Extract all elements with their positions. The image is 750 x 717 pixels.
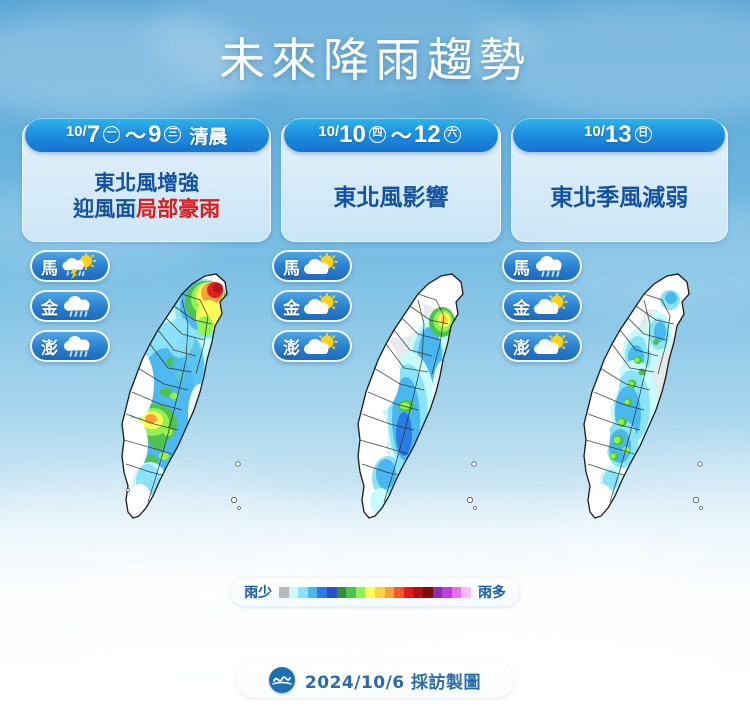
weekday-start: 日 (635, 126, 652, 143)
island-label: 澎 (513, 334, 530, 359)
island-row-kinmen-1: 金 (30, 290, 110, 322)
taiwan-rainfall-map-1 (108, 264, 258, 544)
forecast-panel-row: 10/7一～9三清晨 東北風增強 迎風面局部豪雨 10/10四～12六 東北風影… (22, 122, 728, 242)
date-prefix: 10/ (584, 123, 605, 140)
legend-swatch (433, 587, 443, 598)
sun-cloud-icon (532, 293, 570, 319)
panel-3-summary: 東北季風減弱 (550, 152, 688, 242)
island-label: 馬 (283, 254, 300, 279)
legend-swatch (461, 587, 471, 598)
island-label: 澎 (41, 334, 58, 359)
weekday-start: 四 (369, 126, 386, 143)
panel-2-date-pill: 10/10四～12六 (284, 118, 498, 152)
island-label: 馬 (41, 254, 58, 279)
island-label: 金 (513, 294, 530, 319)
legend-swatch (298, 587, 308, 598)
weekday-end: 三 (164, 126, 181, 143)
panel-3-line1: 東北季風減弱 (550, 183, 688, 212)
date-end: 9 (148, 121, 161, 149)
legend-swatch (404, 587, 414, 598)
date-prefix: 10/ (318, 123, 339, 140)
panel-1-line2-plain: 迎風面 (73, 198, 136, 221)
island-label: 金 (283, 294, 300, 319)
legend-swatch (346, 587, 356, 598)
legend-swatch (365, 587, 375, 598)
column-3: 馬 金 (502, 250, 582, 370)
island-label: 金 (41, 294, 58, 319)
date-start: 10 (339, 121, 366, 149)
panel-2-line1: 東北風影響 (333, 183, 448, 212)
rainfall-legend: 雨少 雨多 (231, 578, 519, 606)
island-row-penghu-1: 澎 (30, 330, 110, 362)
column-2: 馬 金 (272, 250, 352, 370)
panel-1-line2-warning: 局部豪雨 (136, 198, 220, 221)
island-row-matsu-2: 馬 (272, 250, 352, 282)
date-end: 12 (414, 121, 441, 149)
column-1: 馬 (30, 250, 110, 370)
page-title: 未來降雨趨勢 (0, 24, 750, 90)
forecast-columns: 馬 (0, 250, 750, 560)
legend-swatch (413, 587, 423, 598)
sun-cloud-icon (532, 333, 570, 359)
legend-swatch (375, 587, 385, 598)
cloud-rain-icon (60, 293, 98, 319)
sun-cloud-icon (302, 253, 340, 279)
island-row-penghu-2: 澎 (272, 330, 352, 362)
sun-cloud-thunder-rain-icon (60, 253, 98, 279)
panel-1-line2: 迎風面局部豪雨 (73, 197, 220, 223)
legend-swatch (308, 587, 318, 598)
footer-text: 2024/10/6 採訪製圖 (305, 668, 481, 693)
date-suffix: 清晨 (189, 122, 227, 149)
legend-swatch (327, 587, 337, 598)
island-row-matsu-1: 馬 (30, 250, 110, 282)
cloud-rain-icon (60, 333, 98, 359)
cwa-logo-icon (269, 667, 295, 693)
sun-cloud-icon (302, 293, 340, 319)
forecast-panel-2: 10/10四～12六 東北風影響 (281, 122, 500, 242)
panel-1-date-pill: 10/7一～9三清晨 (25, 118, 269, 152)
date-prefix: 10/ (66, 123, 87, 140)
forecast-panel-3: 10/13日 東北季風減弱 (511, 122, 728, 242)
legend-swatch (452, 587, 462, 598)
panel-3-date-pill: 10/13日 (513, 118, 725, 152)
legend-swatch (394, 587, 404, 598)
panel-1-line1: 東北風增強 (94, 171, 199, 197)
panel-2-summary: 東北風影響 (333, 152, 448, 242)
legend-swatch (289, 587, 299, 598)
date-start: 7 (87, 121, 100, 149)
footer-credit: 2024/10/6 採訪製圖 (236, 662, 514, 698)
legend-swatch (442, 587, 452, 598)
cloud-rain-icon (532, 253, 570, 279)
legend-swatch (356, 587, 366, 598)
island-label: 馬 (513, 254, 530, 279)
island-label: 澎 (283, 334, 300, 359)
legend-swatch (279, 587, 289, 598)
date-range-tilde: ～ (125, 120, 146, 150)
legend-swatch (423, 587, 433, 598)
panel-1-summary: 東北風增強 迎風面局部豪雨 (73, 152, 220, 242)
legend-color-scale (279, 587, 471, 598)
taiwan-rainfall-map-2 (344, 264, 494, 544)
legend-swatch (385, 587, 395, 598)
forecast-panel-1: 10/7一～9三清晨 東北風增強 迎風面局部豪雨 (22, 122, 271, 242)
weekday-end: 六 (444, 126, 461, 143)
legend-swatch (317, 587, 327, 598)
sun-cloud-icon (302, 333, 340, 359)
weekday-start: 一 (103, 126, 120, 143)
legend-high-label: 雨多 (478, 582, 506, 602)
legend-swatch (337, 587, 347, 598)
date-range-tilde: ～ (391, 120, 412, 150)
legend-low-label: 雨少 (244, 582, 272, 602)
date-start: 13 (605, 121, 632, 149)
island-row-kinmen-2: 金 (272, 290, 352, 322)
taiwan-rainfall-map-3 (570, 264, 720, 544)
